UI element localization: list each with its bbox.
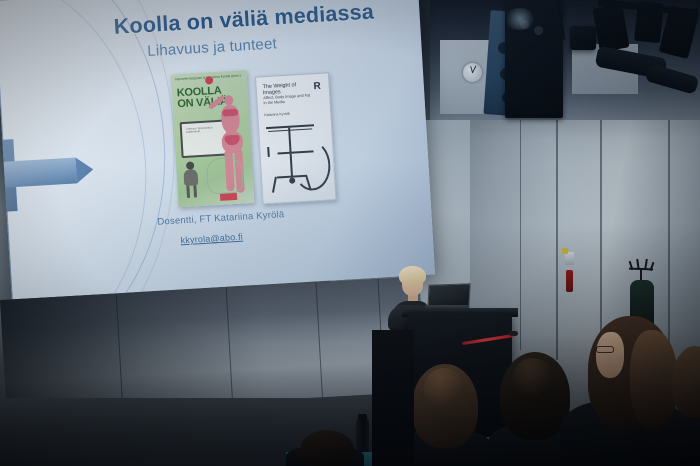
figure-head xyxy=(224,95,234,106)
projection-screen: Koolla on väliä mediassa Lihavuus ja tun… xyxy=(0,0,435,299)
koolla-on-valia-book-cover: Hannele Harjunen & Katariina Kyrölä (toi… xyxy=(171,70,255,207)
audience-hair-highlight xyxy=(424,368,464,408)
ceiling-speaker xyxy=(570,26,596,50)
publisher-logo xyxy=(220,193,237,201)
small-figure-line xyxy=(186,186,190,198)
routledge-logo: R xyxy=(310,80,324,94)
line-art-stroke xyxy=(288,128,292,154)
book-cover-author: Katariina Kyrölä xyxy=(264,112,290,117)
line-art-stroke xyxy=(267,147,270,157)
small-figure-line xyxy=(193,185,197,197)
book-cover-small-figure xyxy=(180,161,202,198)
line-art-stroke xyxy=(272,177,277,193)
lecture-hall-photo: Koolla on väliä mediassa Lihavuus ja tun… xyxy=(0,0,700,466)
speaker-hair xyxy=(399,266,426,285)
spotlight-glow xyxy=(503,8,537,30)
stage-wall xyxy=(0,277,426,415)
eyeglasses xyxy=(596,346,614,353)
audience-silhouette xyxy=(372,330,414,466)
slide-email-link[interactable]: kkyrola@abo.fi xyxy=(180,222,400,245)
wall-clock xyxy=(463,63,482,82)
microphone-capsule xyxy=(509,331,518,336)
audience-head xyxy=(300,430,354,466)
audience-hair-strand xyxy=(630,330,678,430)
stage-light xyxy=(634,1,664,43)
audience-hair-highlight xyxy=(512,358,554,398)
figure-bikini-top xyxy=(222,109,238,117)
small-figure-line xyxy=(183,169,198,186)
audience-face xyxy=(596,332,624,378)
book-cover-line-art xyxy=(264,118,330,199)
line-art-stroke xyxy=(289,177,295,183)
safety-sign xyxy=(562,248,568,254)
the-weight-of-images-book-cover: The Weight of Images Affect, Body Image … xyxy=(255,72,336,204)
speaker-driver xyxy=(534,26,543,35)
fire-extinguisher xyxy=(566,270,573,292)
book-cover-subtitle: Affect, Body Image and Fat in the Media xyxy=(263,93,313,105)
slide-decoration-arrow xyxy=(4,157,77,187)
book-cover-outline-shape xyxy=(206,157,244,195)
stage-wall-shading xyxy=(0,277,426,415)
line-art-arc xyxy=(291,139,332,191)
